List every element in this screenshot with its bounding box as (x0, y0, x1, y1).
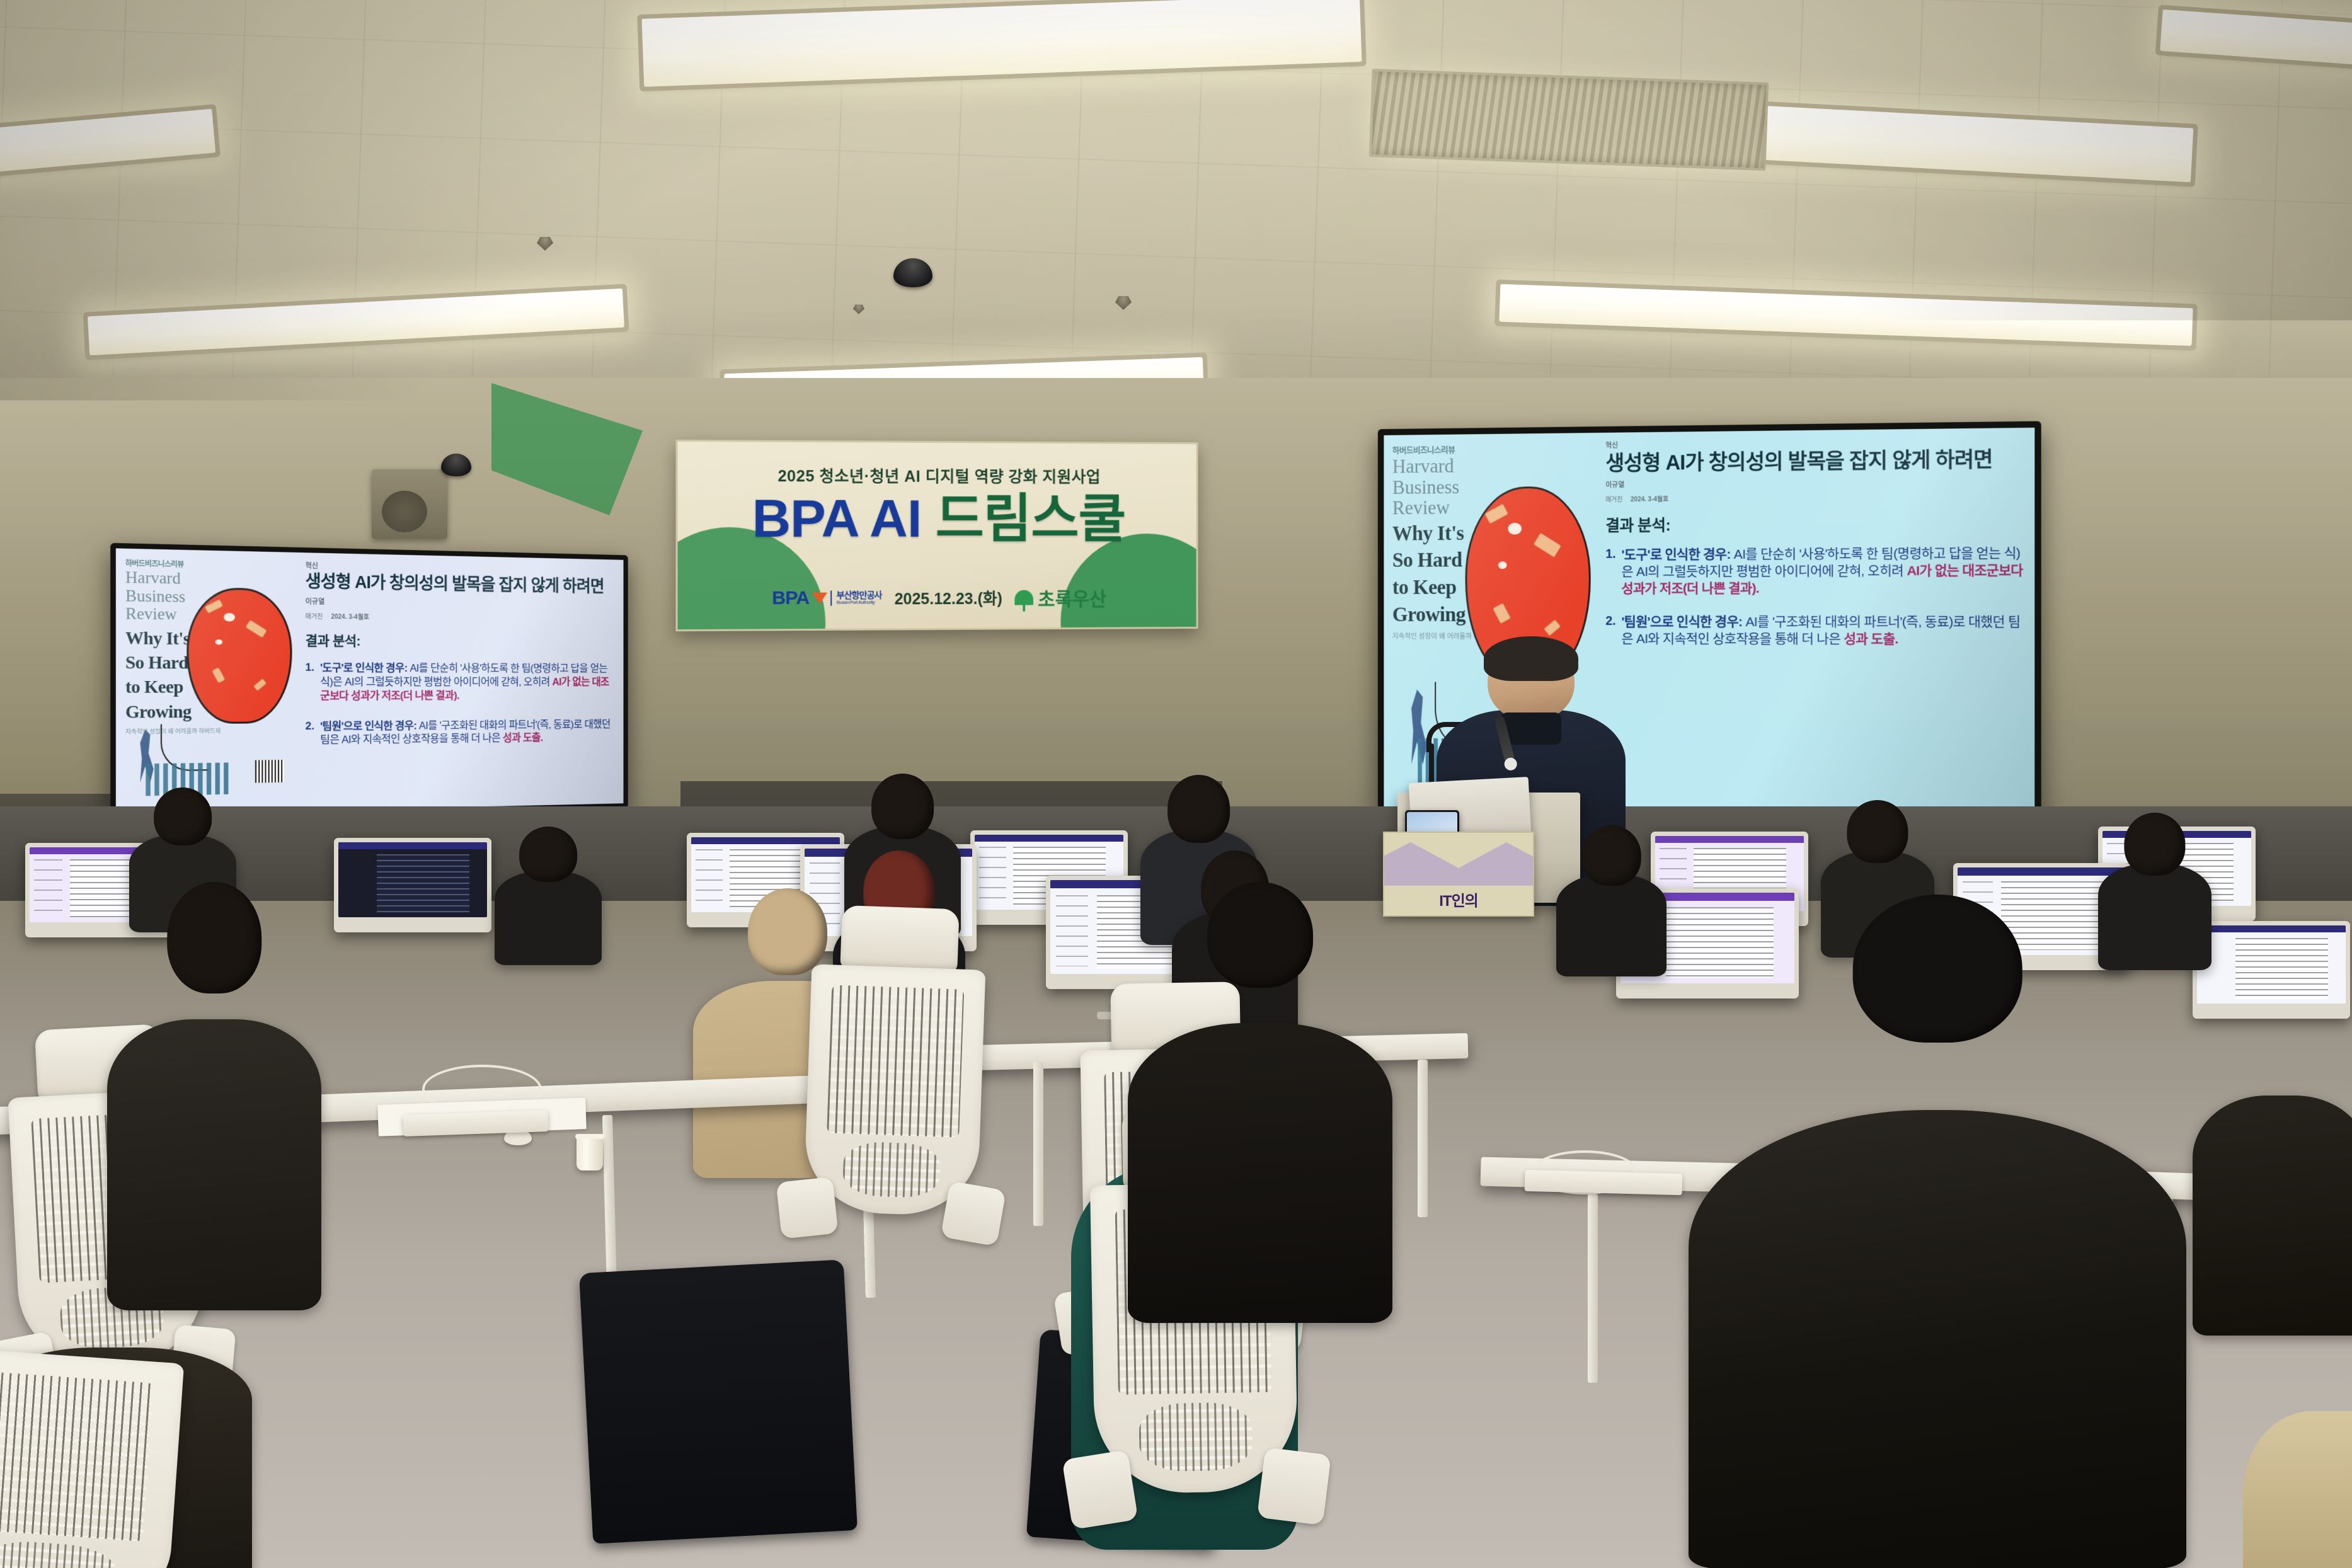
barcode-icon (255, 759, 285, 783)
window-titlebar (2197, 925, 2346, 932)
bullet-text: '도구'로 인식한 경우: AI를 단순히 '사용'하도록 한 팀(명령하고 답… (320, 661, 613, 703)
banner-date: 2025.12.23.(화) (895, 587, 1002, 610)
podium-sign-graphic (1383, 839, 1534, 885)
chair-lumbar-mesh (0, 1538, 118, 1568)
coffee-cup (577, 1136, 603, 1170)
bullet-text: '팀원'으로 인식한 경우: AI를 '구조화된 대화의 파트너'(즉, 동료)… (1622, 614, 2023, 649)
student (1128, 882, 1392, 1323)
window-titlebar (691, 837, 840, 844)
chair-backrest (803, 964, 986, 1216)
slide-magazine: 매거진 2024. 3-4월호 (306, 611, 614, 624)
bullet-lead: '팀원'으로 인식한 경우: (1622, 615, 1743, 629)
doc-sidebar (34, 859, 62, 916)
desk-leg (1588, 1194, 1598, 1383)
doc-sidebar (979, 847, 1006, 903)
hbr-korean-title: 하버드비즈니스리뷰 (1392, 442, 1595, 455)
balloon-highlight (224, 613, 235, 621)
slide-magazine: 매거진 2024. 3-4월호 (1605, 491, 2022, 503)
slide-author: 이규열 (306, 596, 614, 610)
wall-speaker-icon (372, 469, 447, 539)
slide-author: 이규열 (1605, 476, 2022, 490)
hbr-title-line1: Harvard (125, 569, 294, 589)
student-head (1847, 800, 1908, 863)
bpa-english-name: Busan Port Authority (837, 600, 882, 605)
chair-armrest-left (776, 1177, 839, 1239)
chair-lumbar-mesh (842, 1141, 941, 1199)
slide-bullets: 1. '도구'로 인식한 경우: AI를 단순히 '사용'하도록 한 팀(명령하… (306, 661, 614, 748)
student-body (1128, 1023, 1392, 1323)
podium-sign-text: IT인의 (1384, 888, 1533, 910)
left-slide-body: 혁신 생성형 AI가 창의성의 발목을 잡지 않게 하려면 이규열 매거진 20… (299, 552, 623, 811)
green-umbrella-icon (1015, 590, 1034, 605)
bullet-lead: '도구'로 인식한 경우: (320, 662, 407, 674)
chair-headrest (840, 905, 959, 973)
balloon-highlight (1508, 523, 1522, 534)
magazine-issue: 2024. 3-4월호 (1631, 496, 1668, 503)
document-body (377, 854, 469, 913)
magazine-issue: 2024. 3-4월호 (331, 614, 369, 621)
bandaid-icon (1493, 603, 1512, 624)
bpa-triangle-icon (812, 593, 827, 604)
student-head (1853, 895, 2022, 1043)
bandaid-icon (212, 667, 226, 684)
bullet-text: '팀원'으로 인식한 경우: AI를 '구조화된 대화의 파트너'(즉, 동료)… (320, 718, 613, 747)
student-head (519, 827, 577, 882)
window-titlebar (975, 835, 1123, 842)
hbr-title-line1: Harvard (1392, 455, 1595, 476)
bullet-number: 2. (306, 719, 314, 747)
balloon-highlight (1498, 561, 1506, 569)
chair-backrest (0, 1347, 184, 1568)
bandaid-icon (204, 599, 223, 614)
office-chair[interactable] (0, 1302, 198, 1568)
sponsor-logo-text: 초록우산 (1038, 583, 1106, 611)
slide-bullets: 1. '도구'로 인식한 경우: AI를 단순히 '사용'하도록 한 팀(명령하… (1605, 546, 2022, 649)
event-banner: 2025 청소년·청년 AI 디지털 역량 강화 지원사업 BPA AI 드림스… (675, 440, 1198, 631)
bpa-logo-text: BPA (772, 588, 809, 609)
student-head (154, 787, 212, 845)
desk-leg (1418, 1060, 1428, 1217)
window-titlebar (1655, 836, 1804, 843)
banner-green-circle (1060, 534, 1198, 631)
podium-sign: IT인의 (1383, 832, 1534, 917)
bandaid-icon (1533, 533, 1561, 558)
window-titlebar (338, 842, 487, 849)
presenter-glasses (1493, 676, 1569, 692)
monitor-screen (338, 842, 487, 917)
student-head (871, 774, 934, 839)
banner-title-en: BPA AI (752, 488, 921, 548)
student-head (167, 882, 261, 993)
sponsor-logo: 초록우산 (1015, 583, 1106, 611)
dome-camera-icon (441, 454, 471, 476)
slide-section-heading: 결과 분석: (1605, 511, 2022, 536)
bullet-number: 1. (1605, 547, 1615, 598)
bandaid-icon (1543, 619, 1561, 636)
hbr-blurb: 지속적인 성장이 왜 어려울까 하버드의 (125, 726, 294, 736)
bullet-emphasis: 성과 도출. (1844, 632, 1898, 646)
left-slide: 하버드비즈니스리뷰 Harvard Business Review Why It… (116, 548, 624, 815)
bullet-lead: '팀원'으로 인식한 경우: (320, 719, 416, 732)
chair-mesh (0, 1370, 154, 1542)
balloon-highlight (215, 639, 222, 644)
bpa-logo: BPA 부산항만공사 Busan Port Authority (772, 587, 881, 609)
banner-footer: BPA 부산항만공사 Busan Port Authority 2025.12.… (678, 583, 1196, 613)
slide-title: 생성형 AI가 창의성의 발목을 잡지 않게 하려면 (1605, 447, 2022, 476)
bandaid-icon (1485, 503, 1508, 524)
slide-bullet: 1. '도구'로 인식한 경우: AI를 단순히 '사용'하도록 한 팀(명령하… (1605, 546, 2022, 598)
slide-bullet: 1. '도구'로 인식한 경우: AI를 단순히 '사용'하도록 한 팀(명령하… (306, 661, 614, 703)
office-chair[interactable] (794, 904, 995, 1263)
student-body (2193, 1096, 2352, 1336)
banner-subtitle: 2025 청소년·청년 AI 디지털 역량 강화 지원사업 (678, 463, 1196, 488)
slide-bullet: 2. '팀원'으로 인식한 경우: AI를 '구조화된 대화의 파트너'(즉, … (306, 718, 614, 747)
chair-armrest-right (941, 1181, 1006, 1246)
balloon-illustration (186, 587, 292, 723)
left-slide-cover: 하버드비즈니스리뷰 Harvard Business Review Why It… (116, 548, 299, 815)
left-display-screen: 하버드비즈니스리뷰 Harvard Business Review Why It… (110, 543, 628, 820)
banner-title: BPA AI 드림스쿨 (678, 491, 1196, 545)
slide-bullet: 2. '팀원'으로 인식한 경우: AI를 '구조화된 대화의 파트너'(즉, … (1605, 614, 2022, 649)
student-head (2124, 813, 2185, 876)
bandaid-icon (253, 679, 267, 692)
bullet-text: '도구'로 인식한 경우: AI를 단순히 '사용'하도록 한 팀(명령하고 답… (1622, 546, 2023, 598)
student (495, 827, 602, 965)
workstation-monitor[interactable] (334, 838, 491, 932)
classroom-scene: 2025 청소년·청년 AI 디지털 역량 강화 지원사업 BPA AI 드림스… (0, 0, 2352, 1568)
ceiling-air-vent (1369, 69, 1769, 171)
chair-armrest-right (1256, 1447, 1331, 1525)
presenter-hair (1484, 636, 1578, 681)
ceiling-light-panel (2160, 9, 2352, 65)
student (2193, 983, 2352, 1336)
magazine-label: 매거진 (1605, 496, 1622, 503)
student-head (1207, 882, 1313, 988)
student-head (1581, 825, 1641, 886)
magazine-label: 매거진 (306, 614, 323, 621)
hbr-title-line2: Business (1392, 476, 1595, 497)
doc-sidebar (1056, 895, 1088, 966)
bandaid-icon (245, 619, 267, 638)
banner-title-kr: 드림스쿨 (936, 489, 1126, 548)
bullet-emphasis: 성과 도출. (503, 732, 543, 744)
student-body (1689, 1110, 2186, 1568)
bullet-number: 1. (306, 661, 314, 703)
desk-leg (1033, 1062, 1043, 1226)
student-body (495, 871, 602, 965)
chair-armrest-left (1062, 1450, 1138, 1530)
chair-lumbar-mesh (1139, 1402, 1253, 1472)
backpack (579, 1259, 858, 1543)
ceiling (0, 0, 2352, 403)
student-head (1167, 775, 1230, 843)
bullet-lead: '도구'로 인식한 경우: (1622, 547, 1731, 563)
slide-section-heading: 결과 분석: (306, 631, 614, 651)
chair-mesh (827, 985, 964, 1137)
bpa-logo-korean: 부산항만공사 Busan Port Authority (831, 591, 882, 605)
student (1689, 895, 2186, 1568)
wall-green-accent (491, 383, 643, 515)
main-slide-body: 혁신 생성형 AI가 창의성의 발목을 잡지 않게 하려면 이규열 매거진 20… (1599, 428, 2034, 816)
